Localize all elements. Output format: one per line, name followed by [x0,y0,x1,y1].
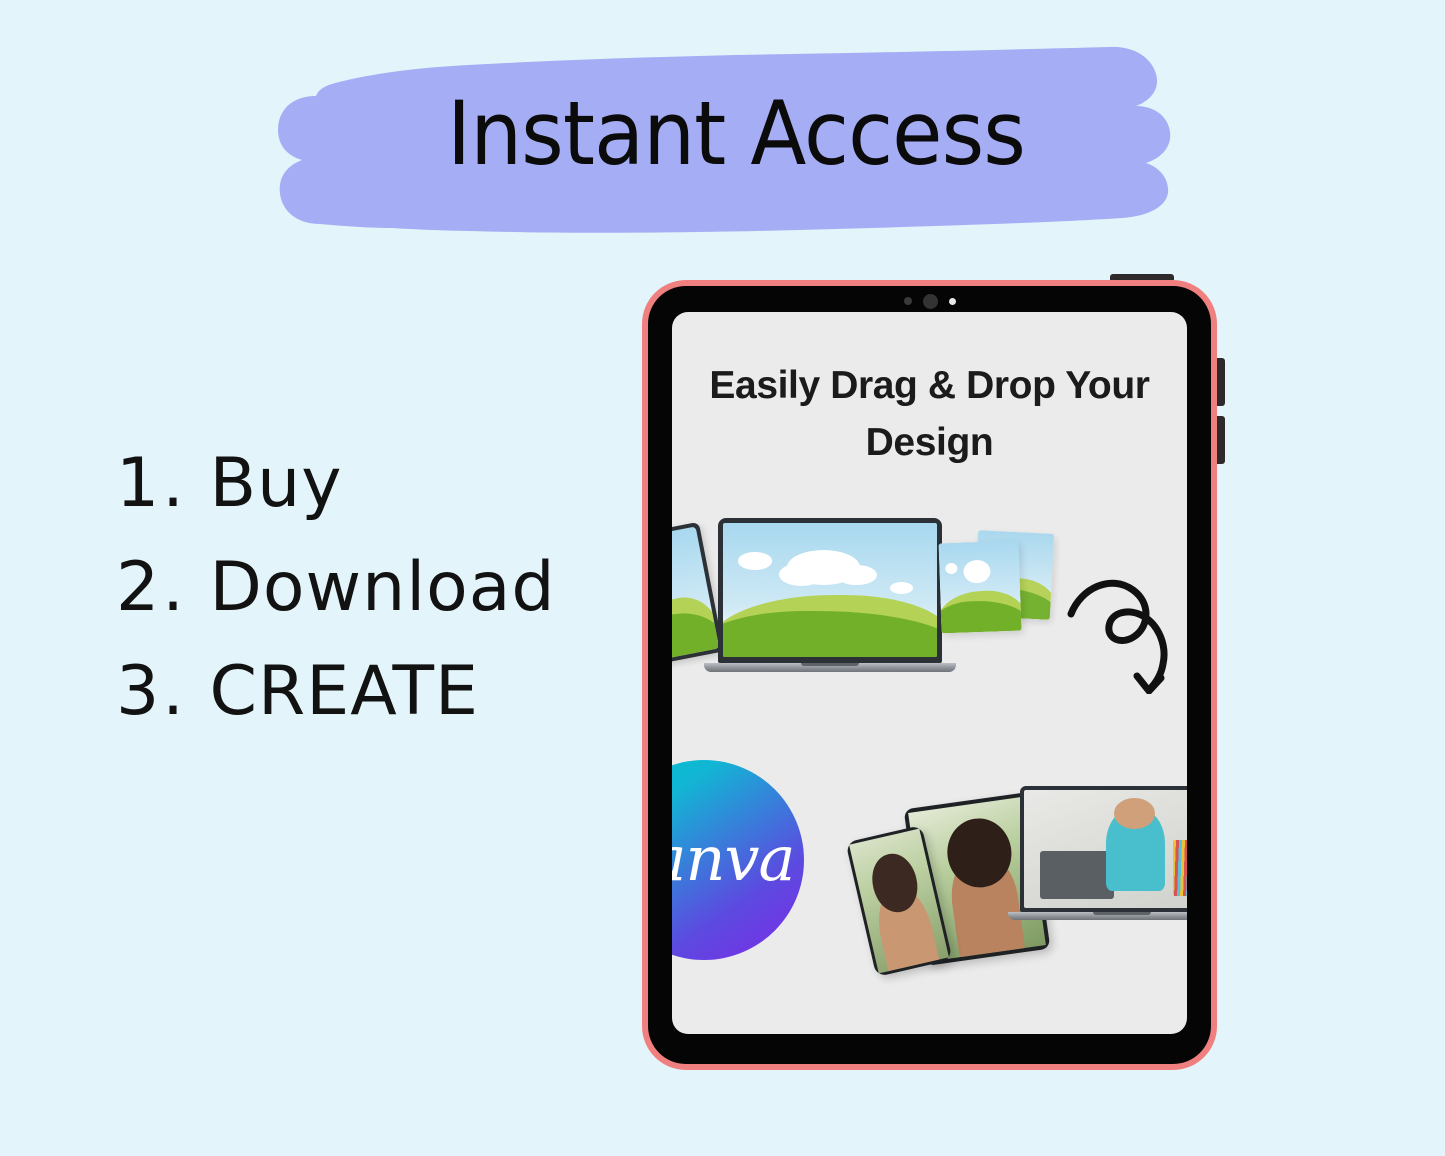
laptop-mockup-classroom [1020,786,1187,920]
cloud-icon [945,563,958,575]
camera-lens-icon [923,294,938,309]
girl-at-laptop-classroom-photo [1024,790,1187,908]
tablet-screen[interactable]: Easily Drag & Drop Your Design [672,312,1187,1034]
landscape-image [938,541,1021,634]
tablet-frame: Easily Drag & Drop Your Design [642,280,1217,1070]
camera-sensor-dot-icon [904,297,912,305]
image-card-front[interactable] [938,541,1021,634]
head-in-photo [1114,798,1155,829]
canva-devices-illustration: anva [672,752,1187,982]
laptop-lid [718,518,942,663]
side-tablet-mockup [672,522,724,666]
volume-down-button[interactable] [1216,416,1225,464]
laptop-lid [1020,786,1187,912]
laptop-base [704,663,956,672]
canva-wordmark: anva [672,822,794,895]
page-title-banner: Instant Access [272,38,1200,236]
laptop-mockup [718,518,942,672]
ambient-light-sensor-icon [949,298,956,305]
cloud-icon [890,582,914,594]
volume-up-button[interactable] [1216,358,1225,406]
canva-logo: anva [672,760,804,960]
landscape-image [723,523,937,657]
cloud-icon [738,552,772,569]
step-label: CREATE [210,652,479,731]
list-item: 3. CREATE [116,640,586,744]
laptop-base [1008,912,1187,920]
drag-and-drop-illustration [672,502,1187,702]
list-item: 2. Download [116,536,586,640]
laptop-screen [1024,790,1187,908]
list-item: 1. Buy [116,432,586,536]
step-number: 3. [116,652,187,731]
camera-array [648,294,1211,308]
step-number: 1. [116,444,187,523]
hill-foreground [938,600,1021,634]
pencils-in-photo [1173,840,1187,897]
page-title: Instant Access [304,38,1167,236]
screen-headline: Easily Drag & Drop Your Design [686,358,1173,471]
landscape-image [672,526,719,661]
tablet-device-mockup: Easily Drag & Drop Your Design [642,280,1217,1070]
step-label: Buy [210,444,343,523]
tablet-bezel: Easily Drag & Drop Your Design [648,286,1211,1064]
curly-arrow-doodle-icon [1067,564,1187,694]
cloud-icon [787,550,860,585]
step-number: 2. [116,548,187,627]
steps-list: 1. Buy 2. Download 3. CREATE [116,432,586,744]
cloud-icon [963,560,991,584]
hill-foreground [723,611,937,657]
laptop-in-photo [1040,851,1114,898]
step-label: Download [210,548,556,627]
device-cluster [852,776,1187,966]
dragged-image-cards[interactable] [940,530,1070,650]
laptop-screen [723,523,937,657]
